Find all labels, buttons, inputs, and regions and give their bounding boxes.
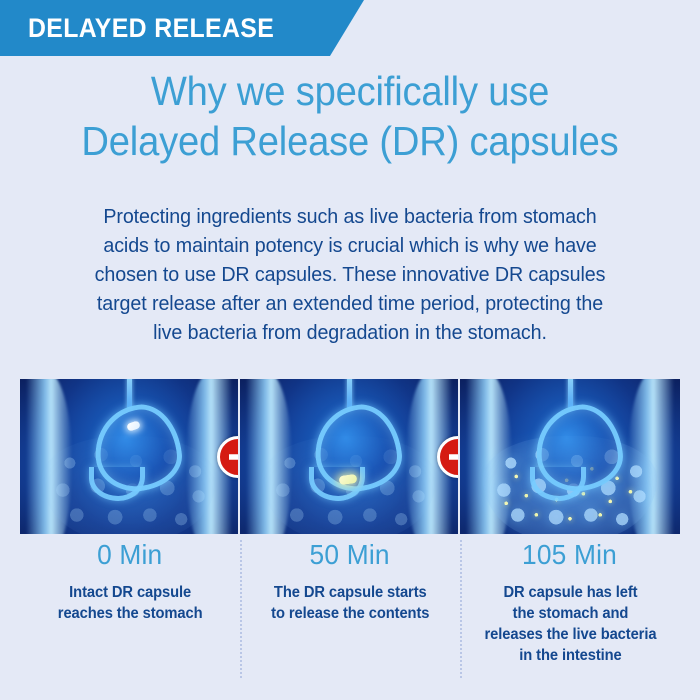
caption-105-min-line-1: DR capsule has left [484, 582, 656, 603]
caption-0-min-line-2: reaches the stomach [58, 603, 203, 624]
time-label-0-min: 0 Min [97, 538, 162, 572]
caption-50-min-line-1: The DR capsule starts [271, 582, 429, 603]
caption-50-min-line-2: to release the contents [271, 603, 429, 624]
caption-105-min: DR capsule has left the stomach and rele… [484, 582, 656, 666]
caption-cell-3: DR capsule has left the stomach and rele… [460, 582, 680, 666]
time-label-105-min: 105 Min [523, 538, 618, 572]
body-line-4: target release after an extended time pe… [50, 289, 649, 318]
timeline-labels: 0 Min 50 Min 105 Min [20, 538, 680, 572]
caption-0-min-line-1: Intact DR capsule [58, 582, 203, 603]
page-title-line-1: Why we specifically use [151, 68, 549, 114]
illustration-strip [20, 379, 680, 534]
caption-105-min-line-3: releases the live bacteria [484, 624, 656, 645]
top-banner: DELAYED RELEASE [0, 0, 700, 56]
page-title-line-2: Delayed Release (DR) capsules [25, 116, 676, 166]
illustration-panel-50-min [240, 379, 460, 534]
time-cell-2: 50 Min [240, 538, 460, 572]
caption-105-min-line-2: the stomach and [484, 603, 656, 624]
caption-0-min: Intact DR capsule reaches the stomach [58, 582, 203, 624]
caption-cell-1: Intact DR capsule reaches the stomach [20, 582, 240, 624]
infographic-page: { "banner": { "label": "DELAYED RELEASE"… [0, 0, 700, 700]
caption-50-min: The DR capsule starts to release the con… [271, 582, 429, 624]
time-cell-1: 0 Min [20, 538, 240, 572]
caption-105-min-line-4: in the intestine [484, 645, 656, 666]
time-label-50-min: 50 Min [310, 538, 390, 572]
illustration-panel-0-min [20, 379, 240, 534]
time-cell-3: 105 Min [460, 538, 680, 572]
body-line-3: chosen to use DR capsules. These innovat… [50, 260, 649, 289]
body-line-2: acids to maintain potency is crucial whi… [50, 231, 649, 260]
body-line-1: Protecting ingredients such as live bact… [50, 202, 649, 231]
caption-cell-2: The DR capsule starts to release the con… [240, 582, 460, 624]
illustration-panel-105-min [460, 379, 680, 534]
page-title: Why we specifically use Delayed Release … [25, 66, 676, 166]
body-paragraph: Protecting ingredients such as live bact… [50, 202, 649, 347]
banner-label: DELAYED RELEASE [28, 0, 274, 56]
timeline-captions: Intact DR capsule reaches the stomach Th… [20, 582, 680, 666]
body-line-5: live bacteria from degradation in the st… [50, 318, 649, 347]
